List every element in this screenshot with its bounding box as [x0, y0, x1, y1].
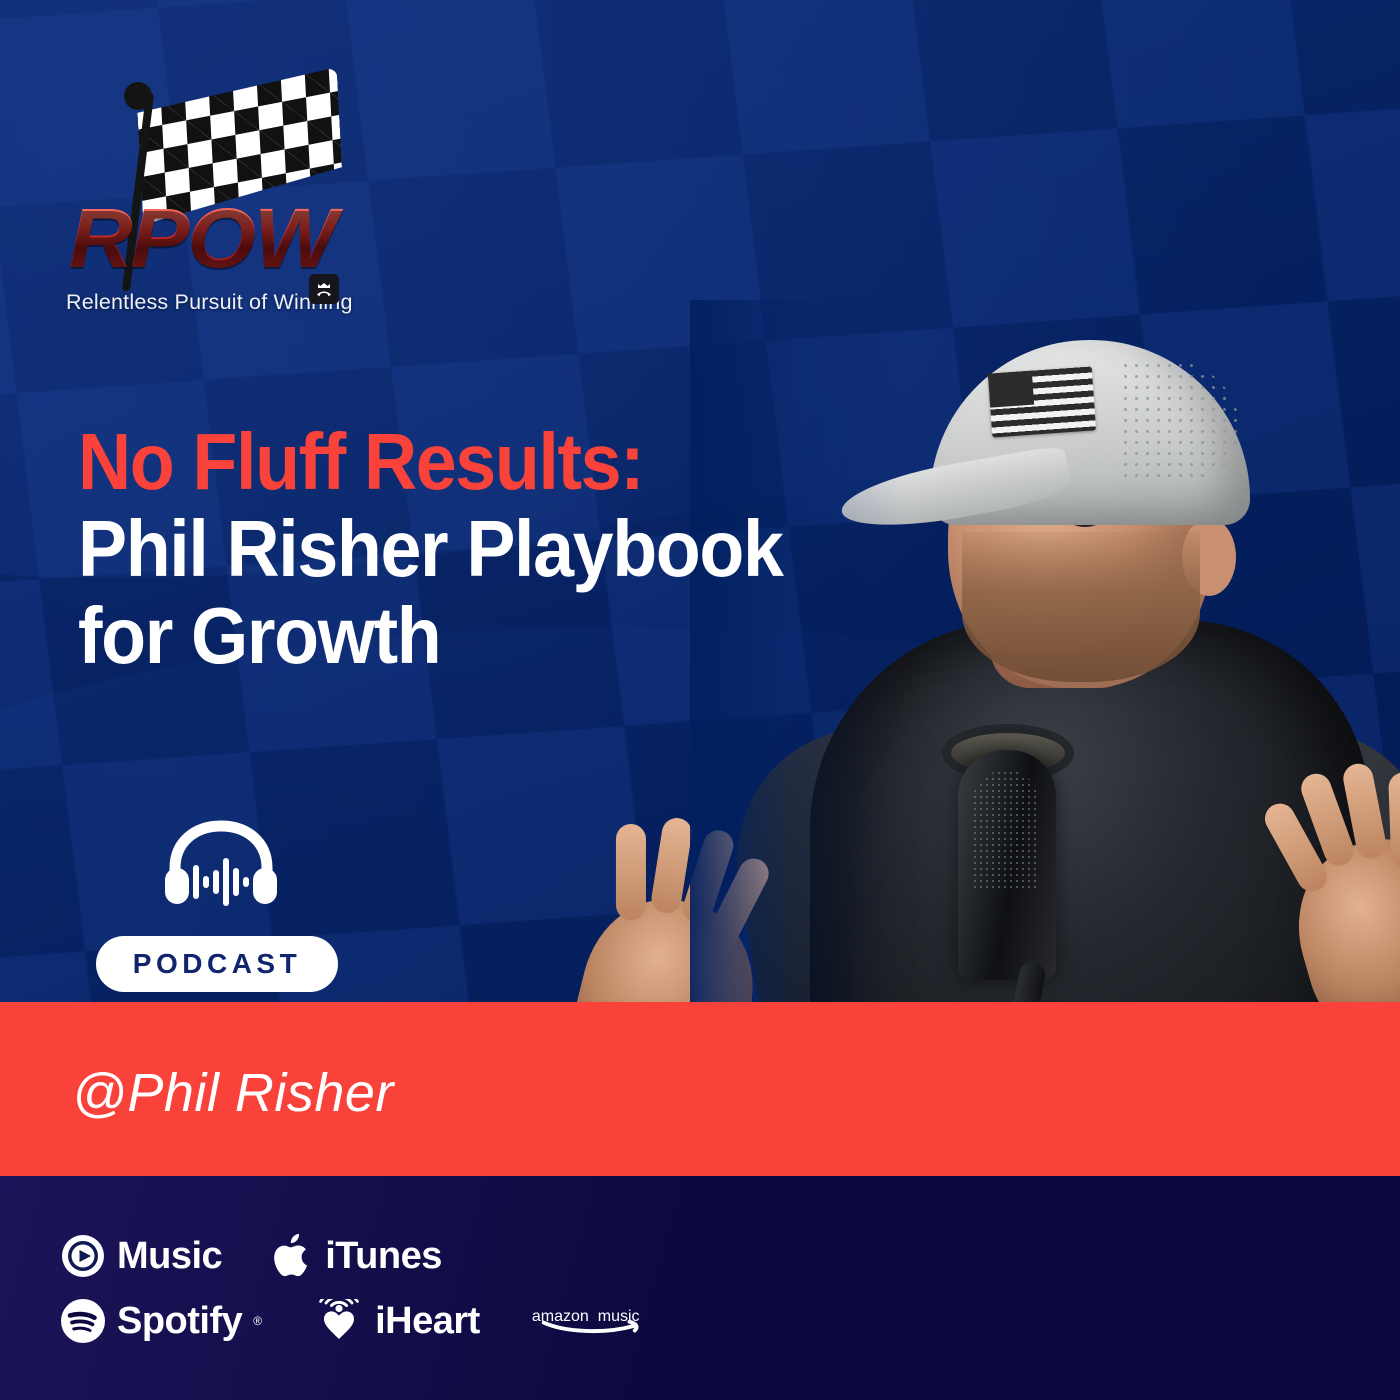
platform-spotify[interactable]: Spotify ® — [60, 1298, 262, 1344]
platform-logos: Music iTunes — [60, 1232, 760, 1362]
headphones-waveform-icon — [161, 818, 281, 914]
platform-iheart[interactable]: iHeart — [314, 1299, 480, 1343]
spotify-icon — [60, 1298, 106, 1344]
platform-row-1: Music iTunes — [60, 1232, 760, 1280]
apple-icon — [274, 1232, 314, 1280]
brand-tagline: Relentless Pursuit of Winning — [66, 290, 396, 315]
youtube-music-icon — [60, 1233, 106, 1279]
platform-label: iHeart — [375, 1300, 480, 1343]
title-line-2: Phil Risher Playbook — [78, 505, 805, 592]
host-handle: @Phil Risher — [72, 1062, 394, 1124]
title-accent-line: No Fluff Results: — [78, 418, 805, 505]
iheart-icon — [314, 1299, 364, 1343]
platform-label: Spotify — [117, 1300, 242, 1343]
platform-music[interactable]: Music — [60, 1233, 222, 1279]
platform-row-2: Spotify ® iHeart amazon — [60, 1298, 760, 1344]
flag-knob — [124, 82, 152, 110]
platform-itunes[interactable]: iTunes — [274, 1232, 442, 1280]
episode-title: No Fluff Results: Phil Risher Playbook f… — [78, 418, 868, 680]
rpow-wordmark: RPOW — [69, 196, 363, 280]
amazon-smile-icon — [532, 1320, 692, 1334]
podcast-badge: PODCAST — [96, 818, 346, 992]
platform-label: Music — [117, 1235, 222, 1278]
registered-mark: ® — [253, 1314, 262, 1328]
podcast-label: PODCAST — [133, 948, 301, 980]
platform-label: iTunes — [325, 1235, 442, 1278]
platform-amazon-music[interactable]: amazon music — [532, 1308, 692, 1334]
podcast-pill: PODCAST — [96, 936, 338, 992]
podcast-cover-art: RPOW RPOW Relentless Pursuit of Winning … — [0, 0, 1400, 1400]
crown-bridge-icon — [309, 274, 339, 304]
title-line-3: for Growth — [78, 592, 805, 679]
